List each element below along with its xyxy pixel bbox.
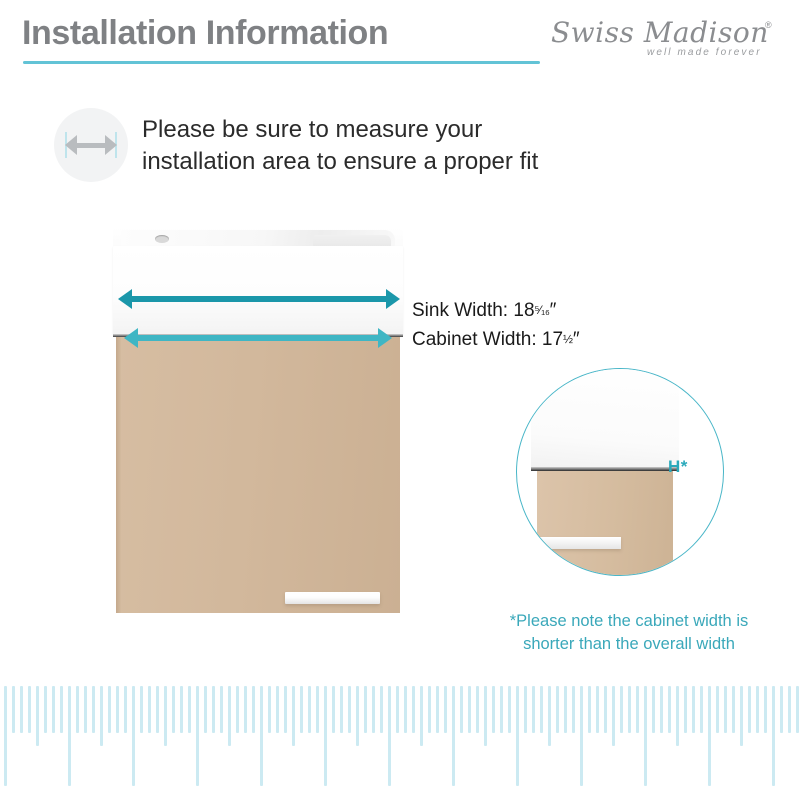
arrow-head-left [65, 135, 77, 155]
ruler-tick [476, 686, 479, 733]
ruler-tick [356, 686, 359, 746]
brand-name: Swiss Madison [551, 16, 769, 49]
ruler-tick [316, 686, 319, 733]
ruler-tick [92, 686, 95, 733]
ruler-tick [84, 686, 87, 733]
ruler-tick [452, 686, 455, 786]
ruler-tick [572, 686, 575, 733]
ruler-tick [204, 686, 207, 733]
ruler-tick [716, 686, 719, 733]
ruler-tick [780, 686, 783, 733]
ruler-tick [228, 686, 231, 746]
ruler-tick [60, 686, 63, 733]
ruler-graphic [0, 660, 800, 800]
ruler-tick [796, 686, 799, 733]
ruler-tick [340, 686, 343, 733]
ruler-tick [236, 686, 239, 733]
detail-zoom-circle [516, 368, 724, 576]
ruler-tick [540, 686, 543, 733]
ruler-tick [172, 686, 175, 733]
cabinet-arrow-head-left [124, 328, 138, 348]
ruler-tick [300, 686, 303, 733]
ruler-tick [364, 686, 367, 733]
ruler-tick [308, 686, 311, 733]
ruler-tick [596, 686, 599, 733]
page-header: Installation Information Swiss Madison ®… [0, 0, 800, 70]
sink-width-fraction: ⁵⁄₁₆ [535, 303, 550, 317]
ruler-tick [732, 686, 735, 733]
ruler-tick [748, 686, 751, 733]
measure-note: Please be sure to measure your installat… [54, 108, 674, 188]
cabinet-handle [285, 592, 380, 604]
ruler-tick [668, 686, 671, 733]
ruler-tick [564, 686, 567, 733]
ruler-tick [252, 686, 255, 733]
ruler-tick [612, 686, 615, 746]
ruler-tick [628, 686, 631, 733]
arrow-head-right [105, 135, 117, 155]
sink-width-label-text: Sink Width: [412, 300, 508, 321]
ruler-tick [460, 686, 463, 733]
ruler-tick [644, 686, 647, 786]
cabinet-left-edge [116, 337, 121, 613]
detail-callout-label: H* [668, 457, 688, 477]
ruler-tick [772, 686, 775, 786]
ruler-tick [20, 686, 23, 733]
ruler-tick [76, 686, 79, 733]
brand-tagline: well made forever [647, 47, 762, 58]
detail-cabinet [537, 471, 673, 575]
faucet-hole [155, 235, 169, 243]
ruler-tick [420, 686, 423, 746]
ruler-tick [148, 686, 151, 733]
ruler-tick [684, 686, 687, 733]
ruler-tick [548, 686, 551, 746]
cabinet-width-footnote: *Please note the cabinet width is shorte… [470, 610, 788, 656]
ruler-tick [324, 686, 327, 786]
ruler-tick [508, 686, 511, 733]
title-underline-rule [23, 61, 540, 64]
ruler-tick [604, 686, 607, 733]
detail-cabinet-handle [537, 537, 621, 549]
ruler-tick [52, 686, 55, 733]
cabinet-arrow-head-right [378, 328, 392, 348]
cabinet-width-label: Cabinet Width: 17½″ [412, 325, 692, 354]
ruler-tick [396, 686, 399, 733]
ruler-tick [156, 686, 159, 733]
ruler-tick [388, 686, 391, 786]
ruler-tick [116, 686, 119, 733]
ruler-tick [412, 686, 415, 733]
ruler-tick [500, 686, 503, 733]
sink-width-value: 18 [513, 300, 534, 321]
ruler-tick [484, 686, 487, 746]
cabinet-width-dimension-arrow [124, 328, 392, 348]
ruler-tick [580, 686, 583, 786]
ruler-tick [196, 686, 199, 786]
ruler-tick [140, 686, 143, 733]
measure-note-text: Please be sure to measure your installat… [142, 114, 538, 178]
ruler-tick [436, 686, 439, 733]
cabinet-width-unit: ″ [573, 329, 580, 350]
sink-width-dimension-arrow [118, 289, 400, 309]
ruler-tick [220, 686, 223, 733]
ruler-tick [132, 686, 135, 786]
ruler-tick [348, 686, 351, 733]
ruler-tick [404, 686, 407, 733]
cabinet-width-fraction: ½ [563, 332, 573, 346]
cabinet-width-label-text: Cabinet Width: [412, 329, 537, 350]
ruler-tick [12, 686, 15, 733]
ruler-tick [36, 686, 39, 746]
ruler-tick [100, 686, 103, 746]
cabinet-arrow-shaft [137, 335, 379, 341]
ruler-tick [276, 686, 279, 733]
ruler-tick [188, 686, 191, 733]
ruler-tick [4, 686, 7, 786]
dimension-labels: Sink Width: 18⁵⁄₁₆″ Cabinet Width: 17½″ [412, 296, 692, 354]
ruler-tick [444, 686, 447, 733]
ruler-tick [788, 686, 791, 733]
ruler-tick [740, 686, 743, 746]
ruler-tick [660, 686, 663, 733]
brand-logo: Swiss Madison ® well made forever [551, 14, 783, 64]
ruler-tick [124, 686, 127, 733]
sink-width-unit: ″ [550, 300, 557, 321]
cabinet-width-value: 17 [542, 329, 563, 350]
cabinet-door-front [116, 337, 400, 613]
ruler-tick [212, 686, 215, 733]
ruler-tick [652, 686, 655, 733]
ruler-tick [636, 686, 639, 733]
ruler-tick [164, 686, 167, 746]
ruler-tick [268, 686, 271, 733]
ruler-tick [372, 686, 375, 733]
sink-arrow-head-right [386, 289, 400, 309]
ruler-tick [708, 686, 711, 786]
ruler-tick [516, 686, 519, 786]
sink-arrow-head-left [118, 289, 132, 309]
ruler-tick [692, 686, 695, 733]
ruler-tick [332, 686, 335, 733]
ruler-tick [180, 686, 183, 733]
ruler-tick [724, 686, 727, 733]
ruler-tick [284, 686, 287, 733]
detail-basin [531, 368, 679, 471]
registered-trademark-icon: ® [765, 20, 772, 30]
ruler-tick [588, 686, 591, 733]
ruler-tick [68, 686, 71, 786]
ruler-tick [532, 686, 535, 733]
vanity-illustration [113, 228, 403, 613]
ruler-tick [44, 686, 47, 733]
ruler-tick [292, 686, 295, 746]
ruler-tick [700, 686, 703, 733]
ruler-tick [260, 686, 263, 786]
ruler-tick [556, 686, 559, 733]
ruler-tick [380, 686, 383, 733]
ruler-tick [468, 686, 471, 733]
sink-arrow-shaft [131, 296, 387, 302]
horizontal-double-arrow-icon [54, 108, 128, 182]
ruler-tick [620, 686, 623, 733]
ruler-tick [492, 686, 495, 733]
ruler-tick [108, 686, 111, 733]
ruler-tick [28, 686, 31, 733]
ruler-tick [756, 686, 759, 733]
page-title: Installation Information [22, 12, 388, 54]
ruler-tick [244, 686, 247, 733]
ruler-tick [676, 686, 679, 746]
ruler-tick [764, 686, 767, 733]
ruler-tick [524, 686, 527, 733]
ruler-tick [428, 686, 431, 733]
sink-width-label: Sink Width: 18⁵⁄₁₆″ [412, 296, 692, 325]
